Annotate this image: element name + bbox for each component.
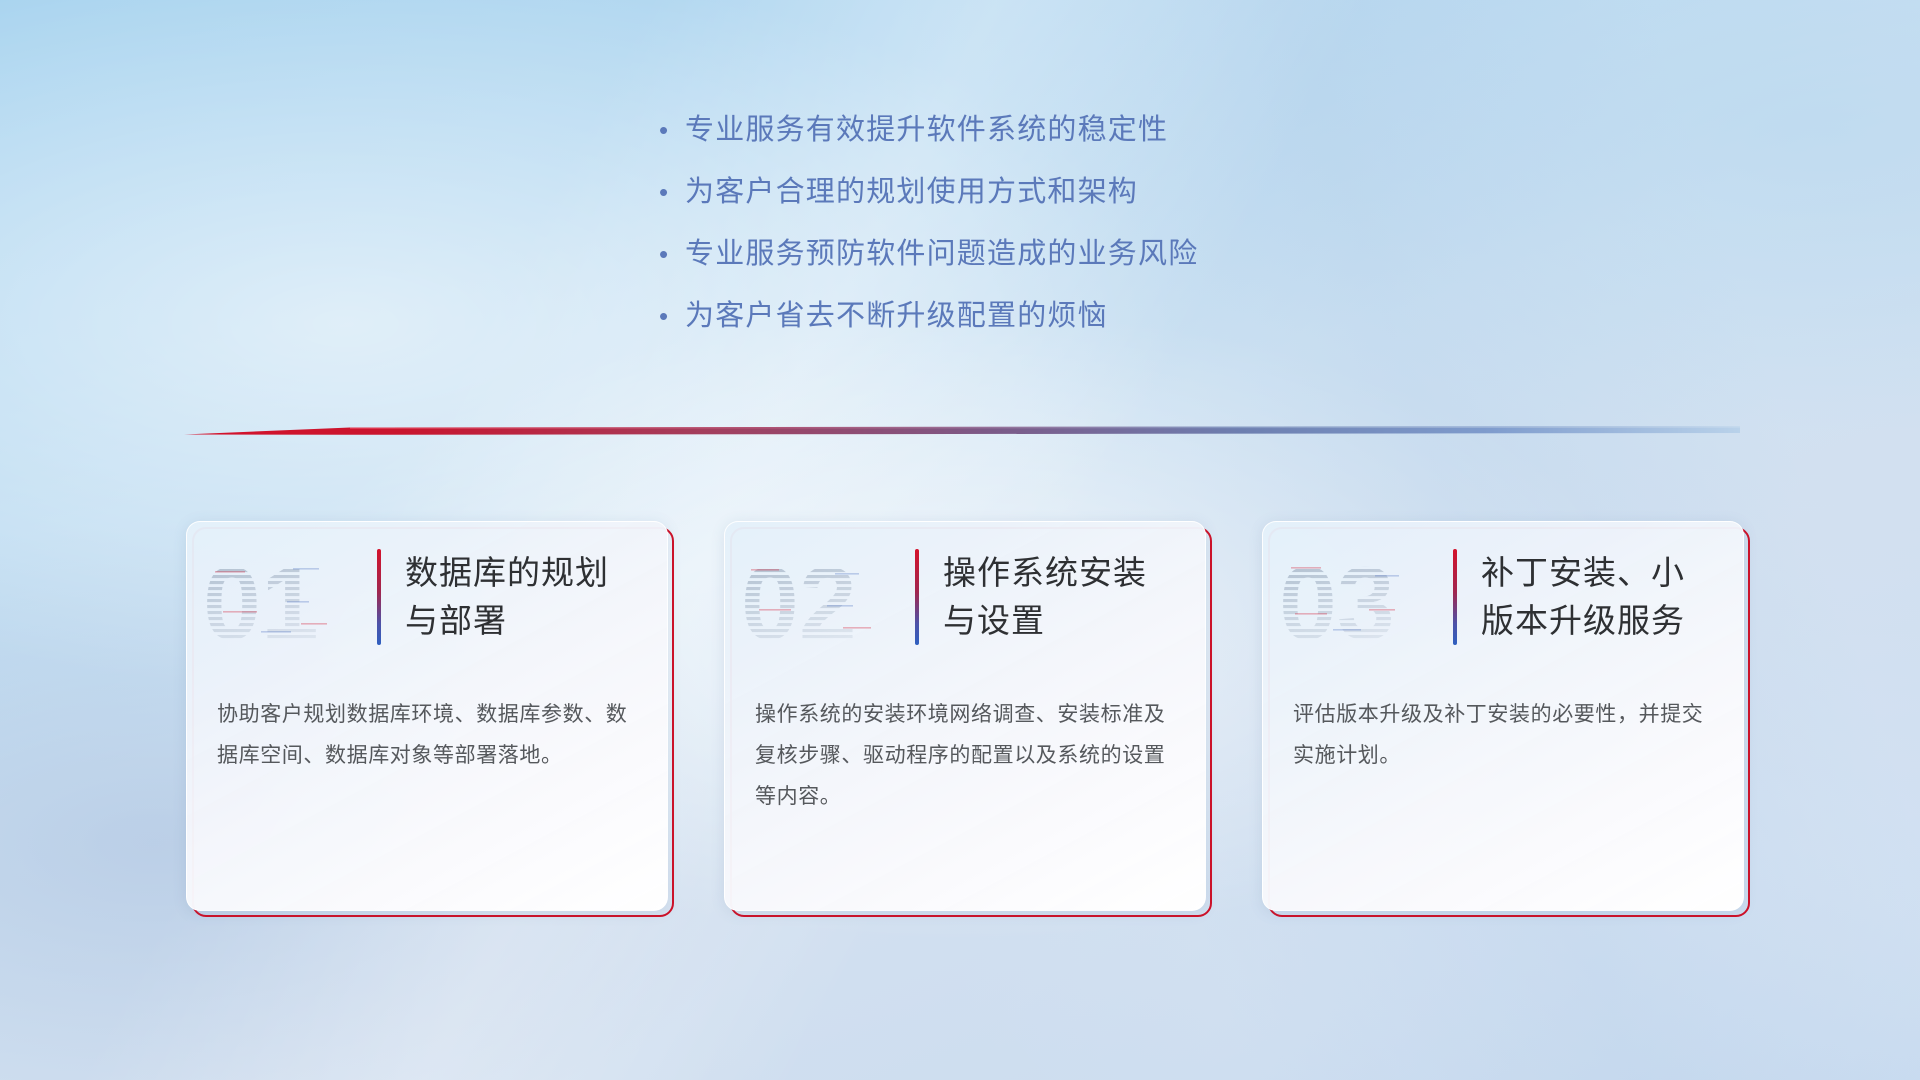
list-item: • 为客户省去不断升级配置的烦恼 xyxy=(655,296,1415,336)
card-title-rule xyxy=(1453,549,1457,645)
benefits-bullet-list: • 专业服务有效提升软件系统的稳定性 • 为客户合理的规划使用方式和架构 • 专… xyxy=(655,110,1415,358)
card-title: 操作系统安装与设置 xyxy=(943,549,1179,645)
bullet-marker-icon: • xyxy=(655,172,685,212)
list-item: • 专业服务有效提升软件系统的稳定性 xyxy=(655,110,1415,150)
card-surface: 03 补丁安装、小版本升级服务 xyxy=(1262,521,1744,911)
list-item: • 为客户合理的规划使用方式和架构 xyxy=(655,172,1415,212)
card-number-watermark: 02 xyxy=(739,539,909,655)
card-body-text: 协助客户规划数据库环境、数据库参数、数据库空间、数据库对象等部署落地。 xyxy=(187,672,667,776)
bullet-text: 为客户省去不断升级配置的烦恼 xyxy=(685,296,1108,336)
card-number-watermark: 01 xyxy=(201,539,371,655)
striped-number-icon: 01 xyxy=(201,539,371,655)
svg-text:03: 03 xyxy=(1279,546,1395,655)
bullet-marker-icon: • xyxy=(655,296,685,336)
bullet-text: 专业服务有效提升软件系统的稳定性 xyxy=(685,110,1168,150)
card-header: 03 补丁安装、小版本升级服务 xyxy=(1263,522,1743,672)
card-title-rule xyxy=(915,549,919,645)
card-header: 01 数据库的规 xyxy=(187,522,667,672)
list-item: • 专业服务预防软件问题造成的业务风险 xyxy=(655,234,1415,274)
striped-number-icon: 02 xyxy=(739,539,909,655)
bullet-marker-icon: • xyxy=(655,110,685,150)
card-title-rule xyxy=(377,549,381,645)
card-surface: 01 数据库的规 xyxy=(186,521,668,911)
bullet-text: 专业服务预防软件问题造成的业务风险 xyxy=(685,234,1198,274)
section-divider xyxy=(180,420,1740,442)
bullet-text: 为客户合理的规划使用方式和架构 xyxy=(685,172,1138,212)
service-card[interactable]: 01 数据库的规 xyxy=(186,521,668,911)
card-surface: 02 操作系统安装与设置 xyxy=(724,521,1206,911)
service-card[interactable]: 03 补丁安装、小版本升级服务 xyxy=(1262,521,1744,911)
svg-text:02: 02 xyxy=(741,546,857,655)
card-body-text: 评估版本升级及补丁安装的必要性，并提交实施计划。 xyxy=(1263,672,1743,776)
slide-canvas: • 专业服务有效提升软件系统的稳定性 • 为客户合理的规划使用方式和架构 • 专… xyxy=(0,0,1920,1080)
bullet-marker-icon: • xyxy=(655,234,685,274)
divider-wedge-icon xyxy=(180,420,1740,442)
card-header: 02 操作系统安装与设置 xyxy=(725,522,1205,672)
card-number-watermark: 03 xyxy=(1277,539,1447,655)
card-body-text: 操作系统的安装环境网络调查、安装标准及复核步骤、驱动程序的配置以及系统的设置等内… xyxy=(725,672,1205,817)
card-title: 补丁安装、小版本升级服务 xyxy=(1481,549,1717,645)
service-card-row: 01 数据库的规 xyxy=(186,521,1746,911)
striped-number-icon: 03 xyxy=(1277,539,1447,655)
card-title: 数据库的规划与部署 xyxy=(405,549,641,645)
service-card[interactable]: 02 操作系统安装与设置 xyxy=(724,521,1206,911)
svg-text:01: 01 xyxy=(203,546,319,655)
